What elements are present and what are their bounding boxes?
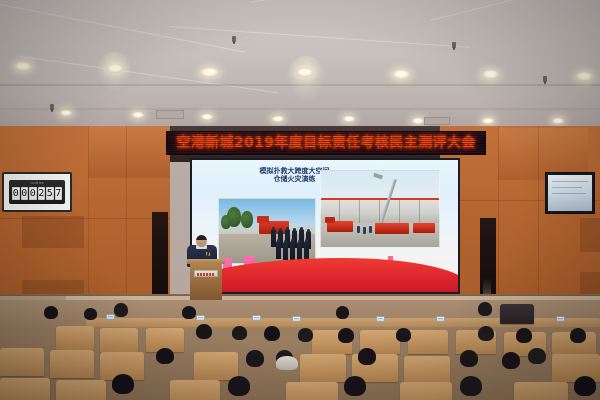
audience-head-with-hat [276,356,298,370]
audience-head [396,328,411,342]
projection-screen: 模拟扑救大跨度大空间 仓储火灾演练 [192,160,458,292]
audience-head [196,324,212,339]
counter-label: COUNTER [30,182,44,185]
seat[interactable] [404,356,450,384]
voting-pad[interactable] [376,316,385,322]
wall-display-panel [545,172,595,214]
seat[interactable] [300,354,346,382]
seat[interactable] [194,352,238,380]
ceiling-downlight [106,64,124,73]
counter-digit: 0 [12,187,20,200]
ceiling-vent [424,117,450,125]
seat[interactable] [514,382,568,400]
voting-pad[interactable] [436,316,445,322]
panel-line [538,126,539,311]
audience-head [246,350,264,367]
audience-person-standing [500,304,534,324]
seat[interactable] [0,348,44,376]
audience-head [112,374,134,394]
ceiling-downlight [576,72,593,81]
slide-photo-aerial-ladder [320,170,440,248]
led-banner-text: 空港新城2019年度目标责任考核民主测评大会 [176,136,475,150]
seat[interactable] [552,354,600,382]
audience-head [478,326,494,341]
led-banner: 空港新城2019年度目标责任考核民主测评大会 [166,131,486,155]
counter-digit: 2 [38,187,46,200]
sprinkler-head-icon [50,104,54,110]
auditorium-photo: 空港新城2019年度目标责任考核民主测评大会 COUNTER 0 0 0 2 5… [0,0,600,400]
audience-head [460,350,478,367]
wall-shadow-panel [580,218,600,252]
ceiling-downlight [482,118,494,124]
audience-head [338,328,354,343]
wall-shadow-panel [22,216,84,248]
audience-head [358,348,376,365]
panel-line [498,126,499,311]
voting-pad[interactable] [196,315,205,321]
audience-head [182,306,196,319]
counter-digit: 7 [55,187,63,200]
ceiling-downlight [201,114,213,120]
seat[interactable] [50,350,94,378]
audience-head [84,308,97,320]
counter-digit: 0 [29,187,37,200]
audience-head [228,376,250,396]
audience-head [336,306,349,319]
ceiling-downlight [552,118,564,124]
slide-ribbon-graphic [192,252,458,292]
counter-digit: 5 [46,187,54,200]
audience-area [0,300,600,400]
wall-display-screen [548,175,592,211]
flip-counter: COUNTER 0 0 0 2 5 7 [9,180,65,204]
audience-head [502,352,520,369]
ceiling-vent [156,110,184,119]
voting-pad[interactable] [556,316,565,322]
sprinkler-head-icon [232,36,236,42]
ceiling-downlight [60,110,72,116]
seat[interactable] [0,378,50,400]
ceiling-downlight [272,116,284,122]
voting-pad[interactable] [106,314,115,320]
light-glow [286,56,326,102]
projection-screen-frame: 模拟扑救大跨度大空间 仓储火灾演练 [190,158,460,294]
ceiling-downlight [392,70,410,79]
audience-head [516,328,532,343]
seat[interactable] [408,330,448,354]
ceiling-downlight [200,68,219,77]
audience-head [460,376,482,396]
audience-head [528,348,546,364]
ceiling-downlight [343,116,355,122]
ceiling-band [0,108,600,110]
seat[interactable] [56,380,106,400]
audience-head [570,328,586,343]
audience-head [574,376,596,396]
seat[interactable] [286,382,338,400]
podium [190,262,222,302]
audience-head [478,302,492,316]
audience-head [298,328,313,342]
speaker-head [196,235,207,247]
seat[interactable] [56,326,94,350]
audience-head [344,376,366,396]
audience-head [232,326,247,340]
sprinkler-head-icon [452,42,456,48]
podium-sign [194,270,218,277]
ceiling-downlight [132,112,144,118]
audience-head [156,348,174,364]
audience-head [114,303,128,317]
seat[interactable] [100,328,138,352]
ceiling-downlight [482,70,499,79]
ceiling-downlight [412,118,424,124]
seat[interactable] [170,380,220,400]
seat[interactable] [400,382,452,400]
counter-monitor: COUNTER 0 0 0 2 5 7 [2,172,72,212]
ceiling-downlight [296,68,314,77]
voting-pad[interactable] [252,315,261,321]
audience-head [44,306,58,319]
voting-pad[interactable] [292,316,301,322]
audience-head [264,326,280,341]
sprinkler-head-icon [543,76,547,82]
ceiling-downlight [14,62,32,71]
wood-soffit-left [88,126,170,178]
counter-digit: 0 [21,187,29,200]
